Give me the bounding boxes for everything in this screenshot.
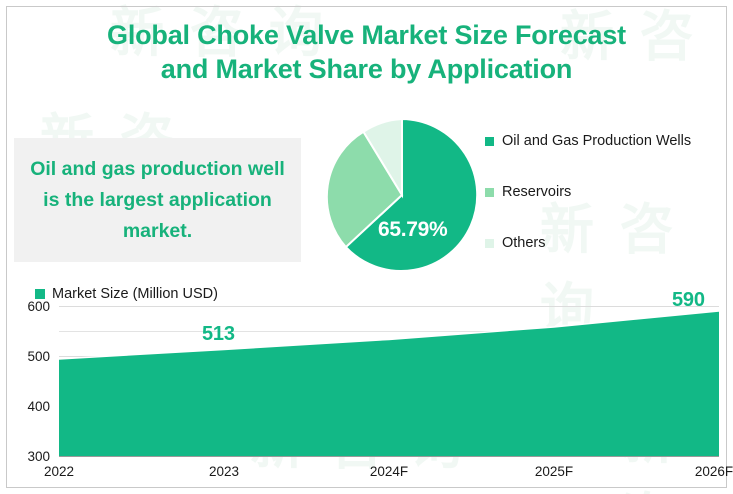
legend-swatch-icon — [485, 239, 494, 248]
pie-legend-label: Reservoirs — [502, 184, 571, 200]
pie-legend-item-oil-and-gas-production-wells[interactable]: Oil and Gas Production Wells — [485, 130, 730, 152]
x-tick-label-2025F: 2025F — [519, 464, 589, 479]
y-tick-label-400: 400 — [14, 399, 50, 414]
pie-legend-label: Others — [502, 235, 546, 251]
y-tick-label-600: 600 — [14, 299, 50, 314]
pie-legend-item-others[interactable]: Others — [485, 232, 730, 254]
x-tick-label-2022: 2022 — [24, 464, 94, 479]
pie-chart-svg — [324, 117, 480, 273]
pie-chart: 65.79% — [324, 117, 480, 273]
page-title: Global Choke Valve Market Size Forecast … — [40, 18, 693, 86]
page-title-line-2: and Market Share by Application — [40, 52, 693, 86]
y-tick-label-500: 500 — [14, 349, 50, 364]
x-tick-label-2026F: 2026F — [679, 464, 733, 479]
legend-swatch-icon — [485, 188, 494, 197]
x-axis-line — [59, 456, 719, 457]
y-tick-label-300: 300 — [14, 449, 50, 464]
pie-legend: Oil and Gas Production Wells Reservoirs … — [485, 130, 730, 283]
legend-swatch-icon — [485, 137, 494, 146]
legend-swatch-icon — [35, 289, 45, 299]
chart-infographic: 新 咨 询 新 咨 新 咨 新 咨 询 新 咨 询 新 咨 Global Cho… — [0, 0, 733, 494]
page-title-line-1: Global Choke Valve Market Size Forecast — [40, 18, 693, 52]
x-tick-label-2023: 2023 — [189, 464, 259, 479]
area-plot-region — [59, 306, 719, 456]
data-label-2023: 513 — [202, 323, 235, 346]
area-series-svg — [59, 306, 719, 456]
pie-data-label: 65.79% — [378, 218, 474, 242]
area-chart-legend[interactable]: Market Size (Million USD) — [35, 286, 218, 302]
area-chart: Market Size (Million USD) 600 500 400 30… — [14, 284, 719, 482]
data-label-2026F: 590 — [672, 289, 705, 312]
area-legend-label: Market Size (Million USD) — [52, 286, 218, 302]
area-series-fill — [59, 311, 719, 456]
x-tick-label-2024F: 2024F — [354, 464, 424, 479]
pie-legend-item-reservoirs[interactable]: Reservoirs — [485, 181, 730, 203]
callout-box: Oil and gas production well is the large… — [14, 138, 301, 262]
pie-legend-label: Oil and Gas Production Wells — [502, 133, 691, 149]
callout-text: Oil and gas production well is the large… — [14, 154, 301, 247]
